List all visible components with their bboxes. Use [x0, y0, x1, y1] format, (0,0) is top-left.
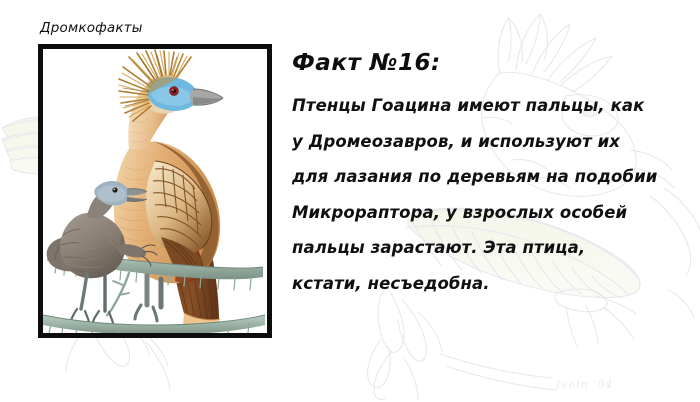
- fact-body-line: у Дромеозавров, и используют их: [292, 124, 688, 160]
- fact-body-line: кстати, несъедобна.: [292, 266, 688, 302]
- hoatzin-illustration: [43, 49, 267, 333]
- fact-body-line: Микрораптора, у взрослых особей: [292, 195, 688, 231]
- fact-title: Факт №16:: [292, 48, 688, 78]
- fact-text-column: Факт №16: Птенцы Гоацина имеют пальцы, к…: [292, 48, 688, 301]
- watermark-claw-left: [368, 288, 442, 387]
- fact-body-line: для лазания по деревьям на подобии: [292, 159, 688, 195]
- page-title: Дромкофакты: [40, 20, 143, 36]
- artist-signature: Ivein '04: [556, 378, 613, 391]
- illustration-frame: [38, 44, 272, 338]
- fact-body-line: Птенцы Гоацина имеют пальцы, как: [292, 88, 688, 124]
- watermark-toes-bottom-left: [374, 352, 418, 400]
- fact-card: Дромкофакты: [0, 0, 700, 402]
- fact-body-line: пальцы зарастают. Эта птица,: [292, 230, 688, 266]
- watermark-tail-lines: [440, 354, 556, 390]
